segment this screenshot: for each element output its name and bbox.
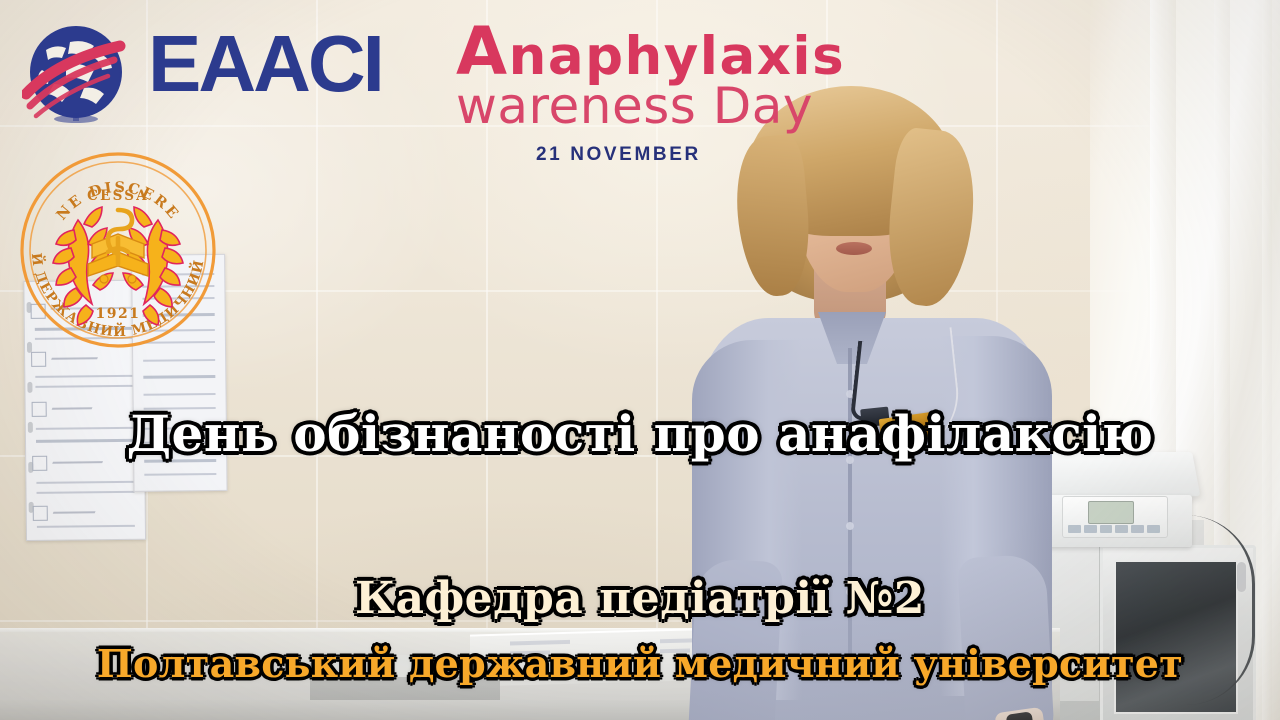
svg-text:CESSA: CESSA (87, 188, 149, 204)
university-seal: NE DISCERE CESSA ПОЛТАВСЬКИЙ ДЕРЖАВНИЙ М… (16, 148, 220, 352)
seal-year: 1921 (96, 306, 141, 322)
campaign-date: 21 NOVEMBER (536, 144, 701, 166)
campaign-line-1: Anaphylaxis (456, 18, 845, 85)
eaaci-globe-icon (22, 20, 130, 128)
video-frame: EAACI Anaphylaxis wareness Day 21 NOVEMB… (0, 0, 1280, 720)
eaaci-acronym: EAACI (148, 24, 382, 104)
caption-title: День обізнаності про анафілаксію (0, 404, 1280, 463)
campaign-title: Anaphylaxis wareness Day (456, 18, 845, 132)
caption-department: Кафедра педіатрії №2 (0, 573, 1280, 624)
campaign-line-2: wareness Day (456, 81, 845, 132)
caption-university: Полтавський державний медичний університ… (0, 641, 1280, 686)
eaaci-logo: EAACI Anaphylaxis wareness Day 21 NOVEMB… (8, 8, 838, 168)
